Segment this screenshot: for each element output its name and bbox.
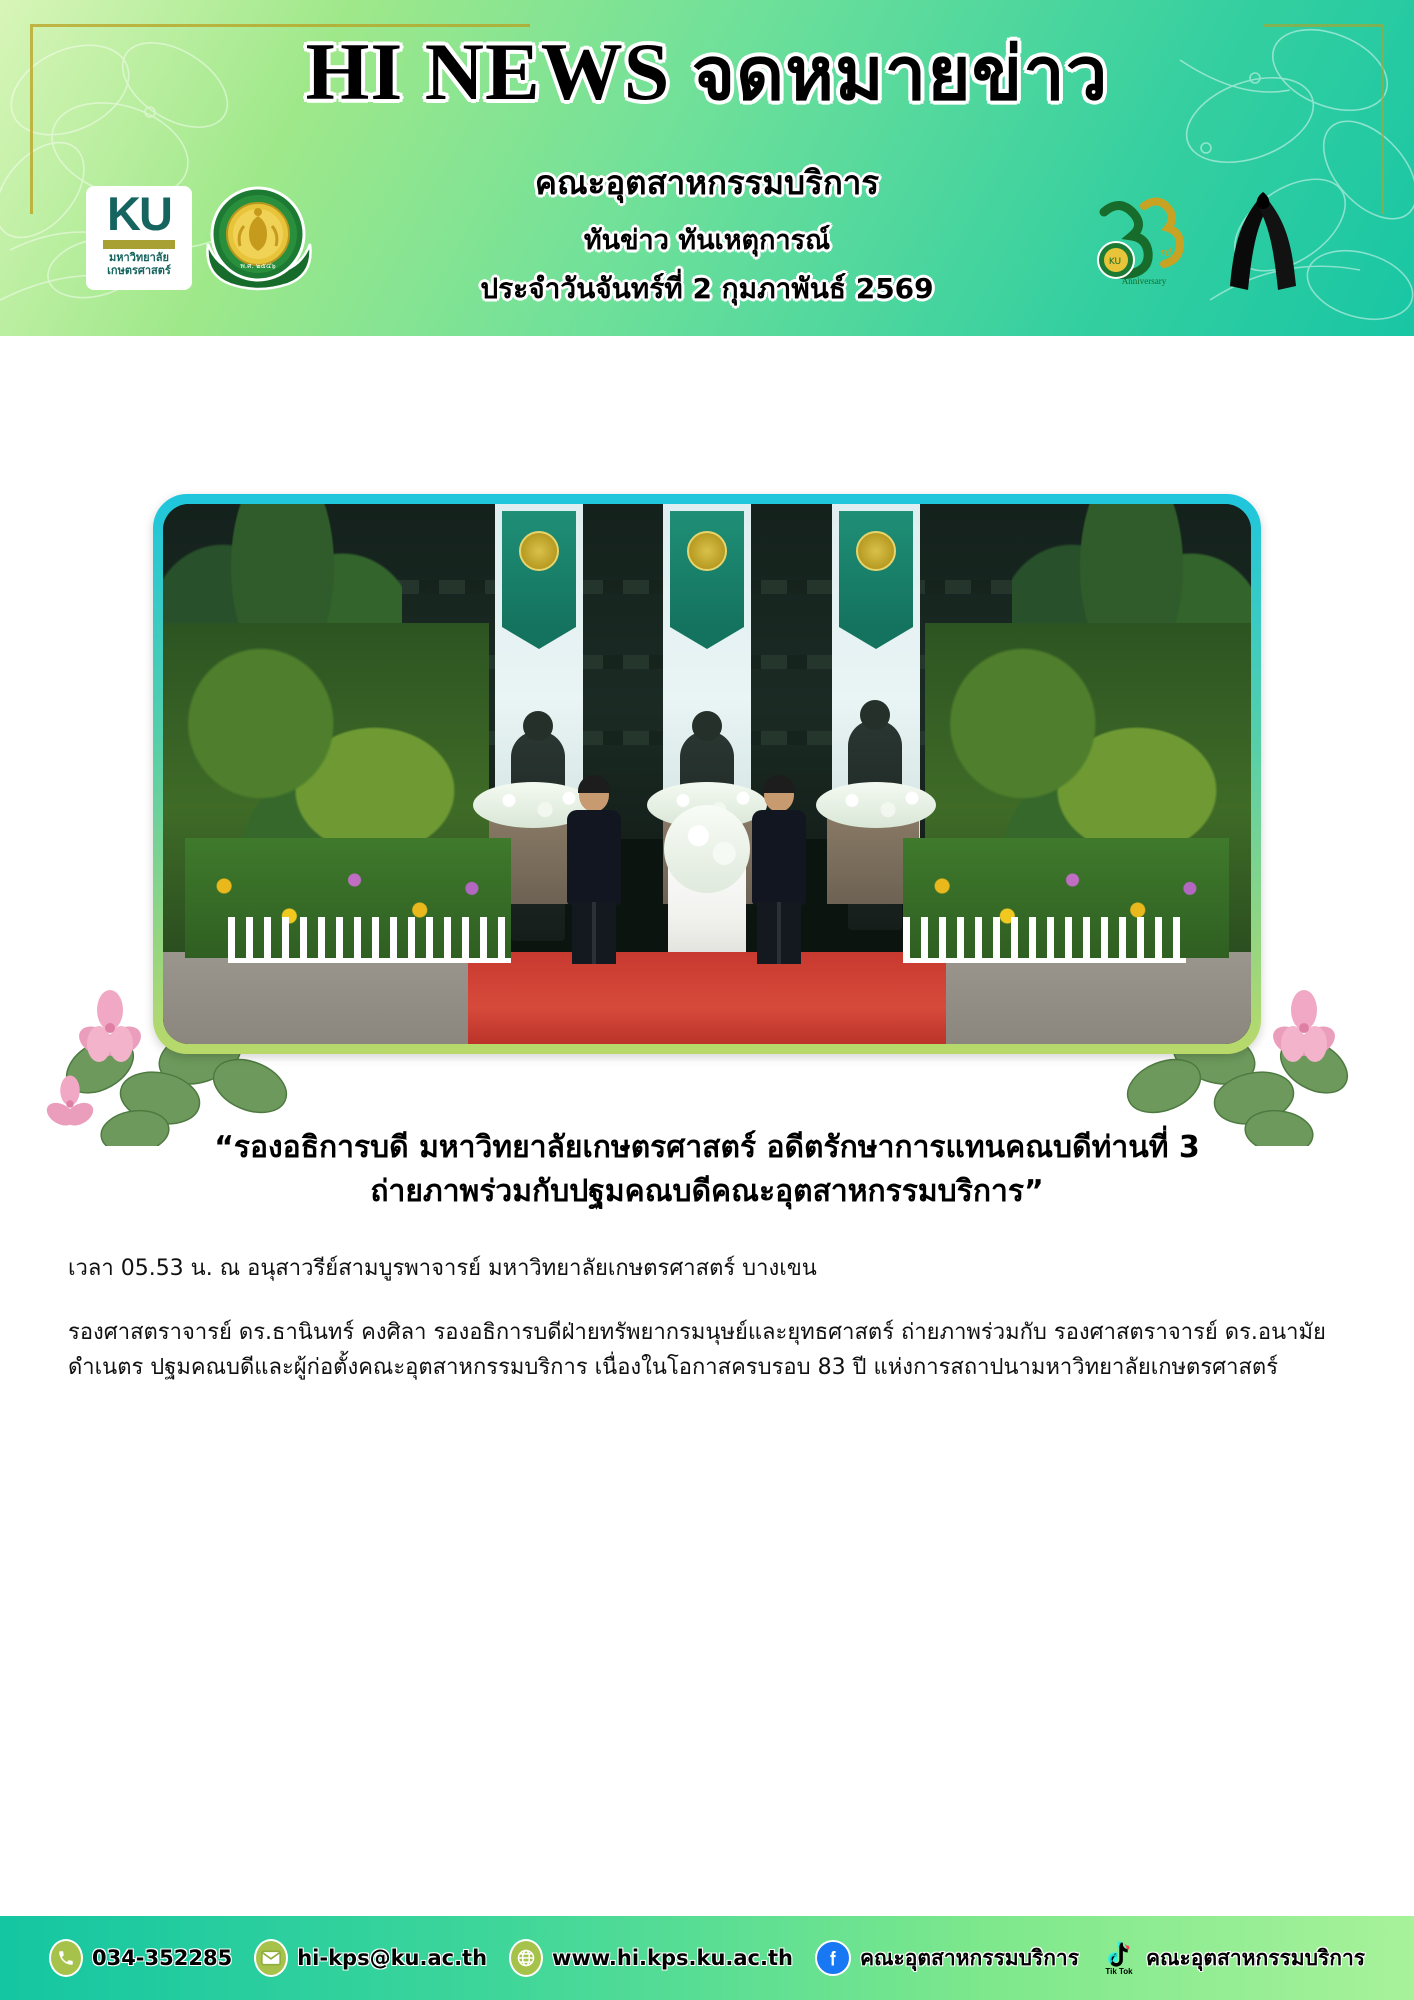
photo-person-hair	[578, 775, 610, 793]
photo-person-legs	[572, 902, 616, 964]
footer-contact-website[interactable]: www.hi.kps.ku.ac.th	[509, 1939, 793, 1977]
news-caption-line-2: ถ่ายภาพร่วมกับปฐมคณบดีคณะอุตสาหกรรมบริกา…	[36, 1170, 1378, 1214]
masthead-title: HI NEWS จดหมายข่าว	[0, 30, 1414, 114]
photo-flower-wreath	[816, 782, 936, 828]
footer-website-label: www.hi.kps.ku.ac.th	[552, 1946, 793, 1970]
masthead-title-en: HI NEWS	[306, 26, 671, 117]
newsletter-page: HI NEWS จดหมายข่าว คณะอุตสาหกรรมบริการ ท…	[0, 0, 1414, 2000]
photo-person-left	[566, 778, 622, 963]
ku-faculty-seal-icon: พ.ศ. ๒๕๔๖	[200, 182, 316, 294]
footer-tiktok-label: คณะอุตสาหกรรมบริการ	[1146, 1942, 1365, 1975]
photo-person-body	[752, 810, 806, 905]
photo-person-hair	[763, 775, 795, 793]
masthead-title-th: จดหมายข่าว	[692, 31, 1109, 117]
photo-red-carpet	[468, 952, 947, 1044]
photo-flower-vase	[664, 805, 750, 893]
photo-banner-medal-icon	[519, 531, 559, 571]
svg-text:KU: KU	[1109, 257, 1121, 267]
ku-university-logo: KU มหาวิทยาลัย เกษตรศาสตร์	[86, 186, 192, 290]
footer-contact-facebook[interactable]: คณะอุตสาหกรรมบริการ	[815, 1940, 1079, 1976]
photo-green-banner	[839, 511, 913, 627]
footer-facebook-label: คณะอุตสาหกรรมบริการ	[860, 1942, 1079, 1975]
svg-text:Anniversary: Anniversary	[1122, 276, 1167, 286]
contact-footer: 034-352285 hi-kps@ku.ac.th www.hi.kps.ku…	[0, 1916, 1414, 2000]
news-photo-frame	[153, 494, 1261, 1054]
news-body-paragraph-1: เวลา 05.53 น. ณ อนุสาวรีย์สามบูรพาจารย์ …	[68, 1251, 1354, 1287]
tiktok-icon: Tik Tok	[1101, 1938, 1137, 1978]
news-body-paragraph-2: รองศาสตราจารย์ ดร.ธานินทร์ คงศิลา รองอธิ…	[68, 1315, 1354, 1386]
photo-white-fence-left	[228, 917, 511, 963]
globe-icon	[509, 1939, 543, 1977]
photo-person-right	[751, 778, 807, 963]
news-photo	[163, 504, 1251, 1044]
black-mourning-ribbon-icon	[1222, 186, 1304, 294]
newsletter-header: HI NEWS จดหมายข่าว คณะอุตสาหกรรมบริการ ท…	[0, 0, 1414, 336]
photo-green-banner	[502, 511, 576, 627]
ku-logo-line2: เกษตรศาสตร์	[91, 265, 187, 278]
anniversary-badge-icon: KU rd Anniversary	[1082, 190, 1192, 290]
photo-white-fence-right	[903, 917, 1186, 963]
photo-person-body	[567, 810, 621, 905]
photo-banner-medal-icon	[856, 531, 896, 571]
newsletter-content: “รองอธิการบดี มหาวิทยาลัยเกษตรศาสตร์ อดี…	[0, 336, 1414, 1916]
photo-banner-medal-icon	[687, 531, 727, 571]
facebook-icon	[815, 1940, 851, 1976]
footer-contact-phone[interactable]: 034-352285	[49, 1939, 232, 1977]
phone-icon	[49, 1939, 83, 1977]
photo-person-legs	[757, 902, 801, 964]
ku-logo-letters: KU	[91, 190, 187, 237]
footer-contact-email[interactable]: hi-kps@ku.ac.th	[254, 1939, 487, 1977]
svg-text:rd: rd	[1160, 244, 1172, 259]
photo-green-banner	[670, 511, 744, 627]
email-icon	[254, 1939, 288, 1977]
news-body: เวลา 05.53 น. ณ อนุสาวรีย์สามบูรพาจารย์ …	[68, 1251, 1354, 1386]
news-caption-line-1: “รองอธิการบดี มหาวิทยาลัยเกษตรศาสตร์ อดี…	[36, 1126, 1378, 1170]
ku-logo-bar	[103, 240, 175, 249]
footer-contact-tiktok[interactable]: Tik Tok คณะอุตสาหกรรมบริการ	[1101, 1938, 1365, 1978]
tiktok-sub-label: Tik Tok	[1105, 1967, 1132, 1976]
svg-text:พ.ศ. ๒๕๔๖: พ.ศ. ๒๕๔๖	[240, 262, 276, 270]
footer-phone-label: 034-352285	[92, 1946, 232, 1970]
news-caption: “รองอธิการบดี มหาวิทยาลัยเกษตรศาสตร์ อดี…	[36, 1126, 1378, 1213]
footer-email-label: hi-kps@ku.ac.th	[297, 1946, 487, 1970]
